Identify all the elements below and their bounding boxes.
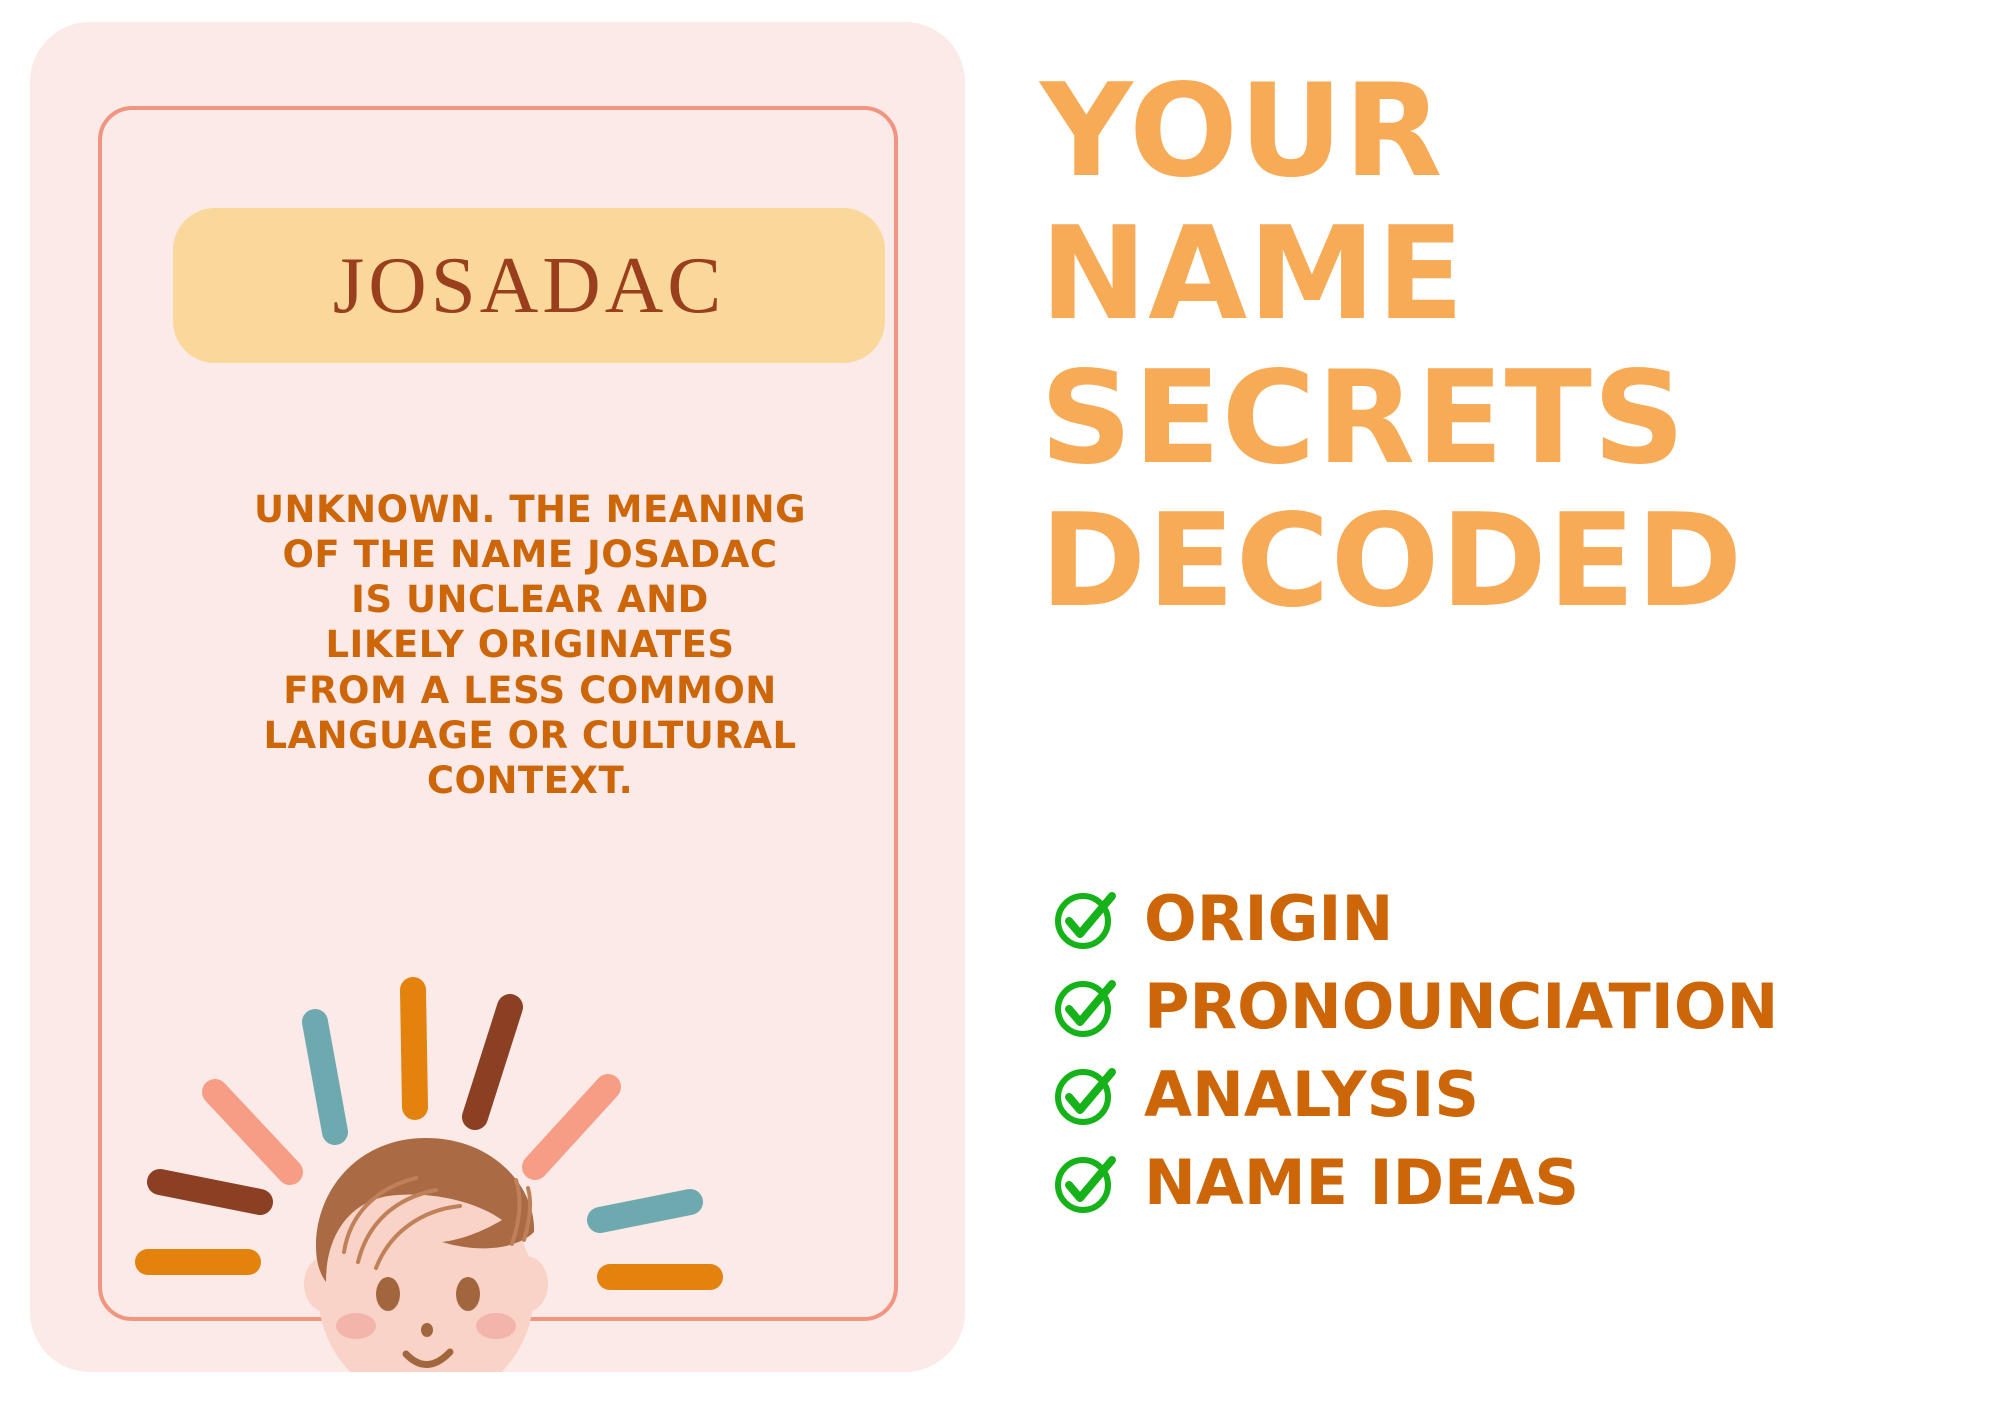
nose bbox=[421, 1323, 433, 1337]
name-meaning-text: UNKNOWN. THE MEANING OF THE NAME JOSADAC… bbox=[180, 487, 880, 803]
check-circle-icon bbox=[1052, 1062, 1118, 1128]
ray-orange-center bbox=[413, 990, 415, 1107]
name-title: JOSADAC bbox=[333, 245, 726, 326]
eye-right bbox=[456, 1277, 480, 1311]
feature-list: ORIGIN PRONOUNCIATION ANALYSIS NAME IDEA… bbox=[1052, 875, 1952, 1227]
check-circle-icon bbox=[1052, 974, 1118, 1040]
check-circle-icon bbox=[1052, 1150, 1118, 1216]
name-banner: JOSADAC bbox=[173, 208, 885, 363]
ray-teal-right bbox=[600, 1202, 690, 1220]
eye-left bbox=[376, 1277, 400, 1311]
feature-label: PRONOUNCIATION bbox=[1144, 976, 1778, 1038]
feature-item-pronounciation: PRONOUNCIATION bbox=[1052, 963, 1952, 1051]
right-panel: YOUR NAME SECRETS DECODED ORIGIN PRONOUN… bbox=[1040, 60, 1960, 1360]
feature-label: NAME IDEAS bbox=[1144, 1152, 1579, 1214]
headline-line-3: SECRETS bbox=[1040, 347, 1960, 490]
feature-item-analysis: ANALYSIS bbox=[1052, 1051, 1952, 1139]
cheek-right bbox=[476, 1313, 516, 1339]
feature-label: ORIGIN bbox=[1144, 888, 1393, 950]
headline-line-1: YOUR bbox=[1040, 60, 1960, 203]
cheek-left bbox=[336, 1313, 376, 1339]
child-face-illustration bbox=[130, 902, 880, 1372]
feature-item-name-ideas: NAME IDEAS bbox=[1052, 1139, 1952, 1227]
ray-brown-right bbox=[475, 1007, 510, 1117]
ray-salmon-left bbox=[215, 1092, 290, 1172]
feature-item-origin: ORIGIN bbox=[1052, 875, 1952, 963]
ray-teal-left bbox=[315, 1022, 335, 1132]
feature-label: ANALYSIS bbox=[1144, 1064, 1479, 1126]
headline-line-4: DECODED bbox=[1040, 490, 1960, 633]
check-circle-icon bbox=[1052, 886, 1118, 952]
ray-salmon-right bbox=[535, 1087, 608, 1167]
headline-line-2: NAME bbox=[1040, 203, 1960, 346]
child-head bbox=[304, 1138, 548, 1372]
name-card: JOSADAC UNKNOWN. THE MEANING OF THE NAME… bbox=[30, 22, 965, 1372]
ray-brown-left bbox=[160, 1182, 260, 1202]
